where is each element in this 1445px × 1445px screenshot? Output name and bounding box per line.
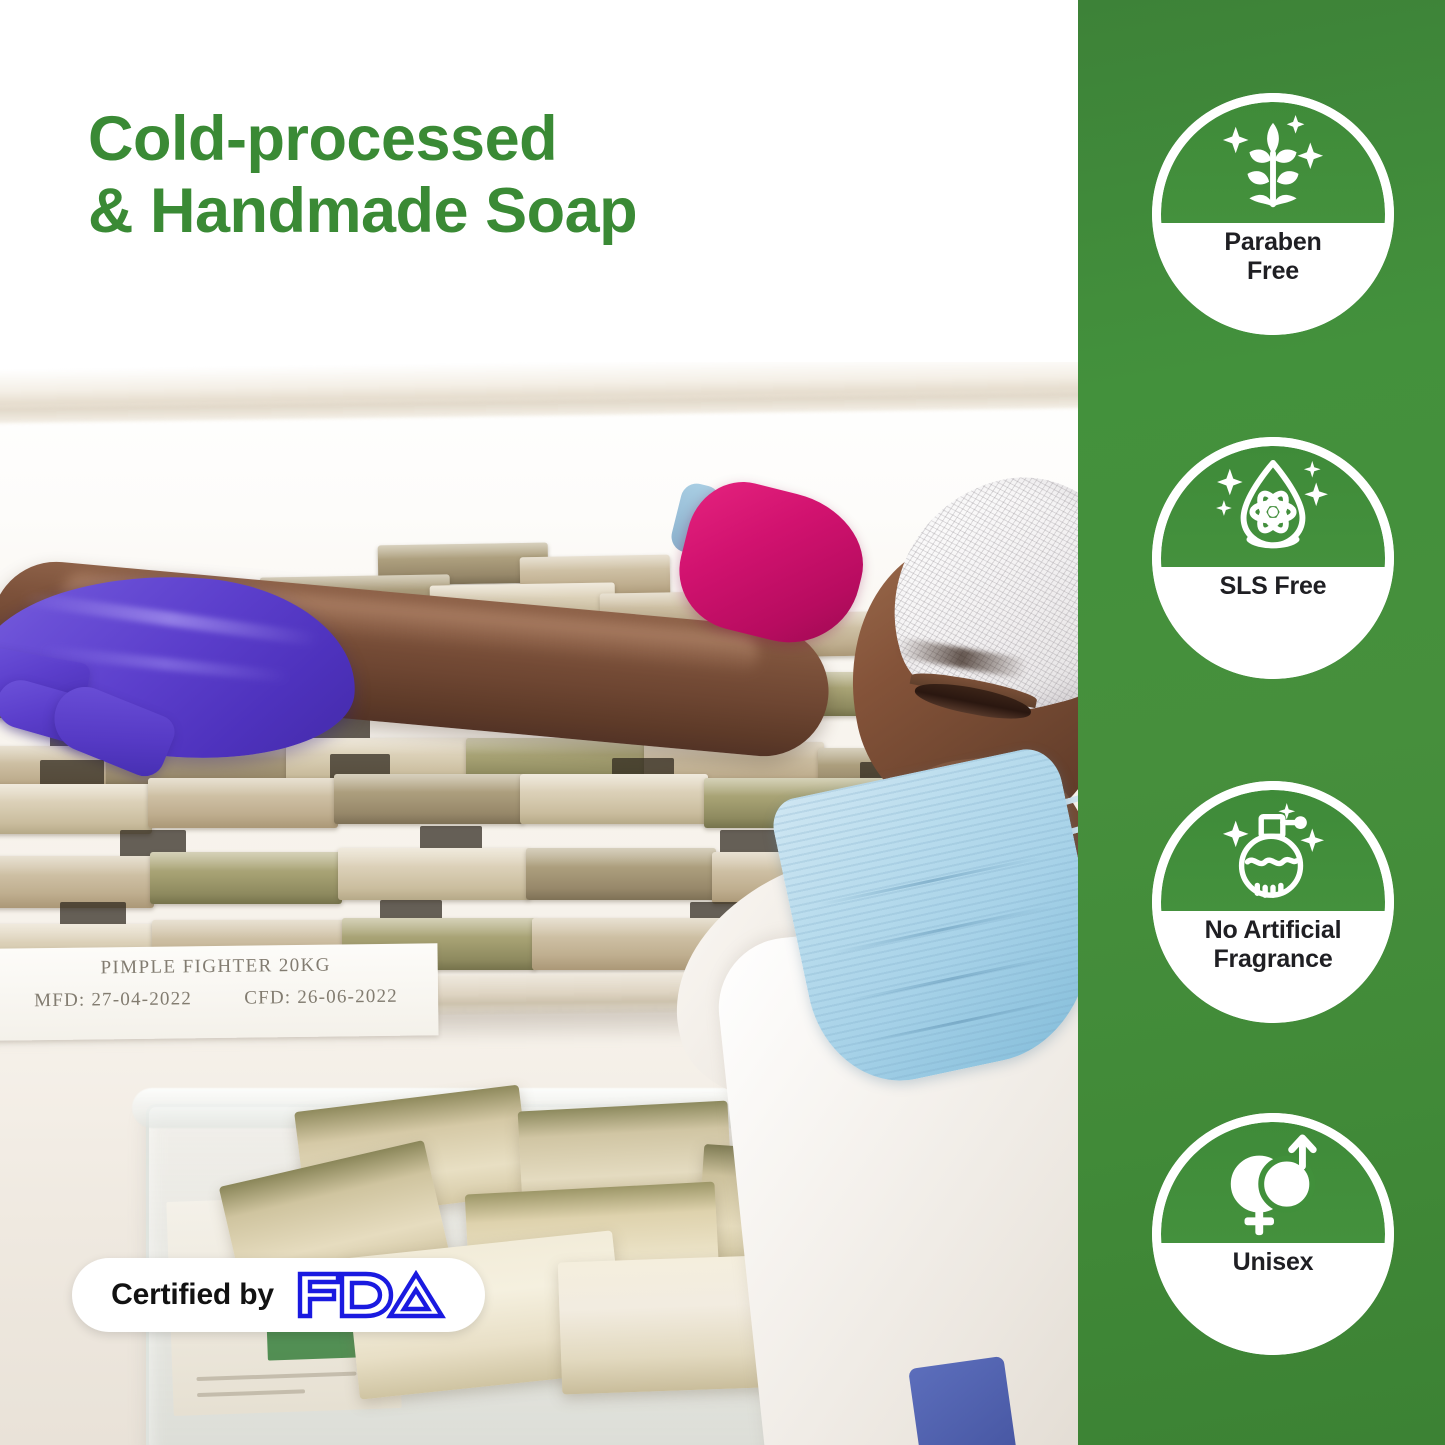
certified-by-label: Certified by (111, 1278, 274, 1312)
left-column: Cold-processed & Handmade Soap (0, 0, 1078, 1445)
badge-sls-free: SLS Free (1152, 437, 1394, 679)
product-feature-graphic: Cold-processed & Handmade Soap (0, 0, 1445, 1445)
droplet-atom-sparkle-icon (1214, 457, 1332, 563)
feature-badges-panel: Paraben Free (1078, 0, 1445, 1445)
shelf-label-product: PIMPLE FIGHTER 20KG (0, 953, 438, 980)
fda-certification-badge: Certified by (72, 1258, 485, 1332)
fda-logo-icon (294, 1270, 446, 1320)
factory-worker (700, 362, 1078, 1445)
perfume-bottle-sparkle-icon (1214, 801, 1332, 907)
badge-label: SLS Free (1220, 572, 1327, 601)
shelf-label-sign: PIMPLE FIGHTER 20KG MFD: 27-04-2022 CFD:… (0, 943, 439, 1040)
badge-unisex: Unisex (1152, 1113, 1394, 1355)
shelf-label-mfd: MFD: 27-04-2022 (34, 988, 192, 1012)
headline-block: Cold-processed & Handmade Soap (88, 104, 1028, 248)
worker-badge (908, 1356, 1020, 1445)
badge-label: Paraben Free (1224, 228, 1321, 286)
badge-no-artificial-fragrance: No Artificial Fragrance (1152, 781, 1394, 1023)
headline-line-2: & Handmade Soap (88, 176, 1028, 248)
headline-line-1: Cold-processed (88, 104, 1028, 176)
badge-label: No Artificial Fragrance (1205, 916, 1342, 974)
badge-paraben-free: Paraben Free (1152, 93, 1394, 335)
badge-label: Unisex (1233, 1248, 1314, 1277)
plant-sparkle-icon (1214, 113, 1332, 219)
shelf-label-cfd: CFD: 26-06-2022 (244, 986, 398, 1010)
unisex-gender-symbols-icon (1214, 1133, 1332, 1239)
